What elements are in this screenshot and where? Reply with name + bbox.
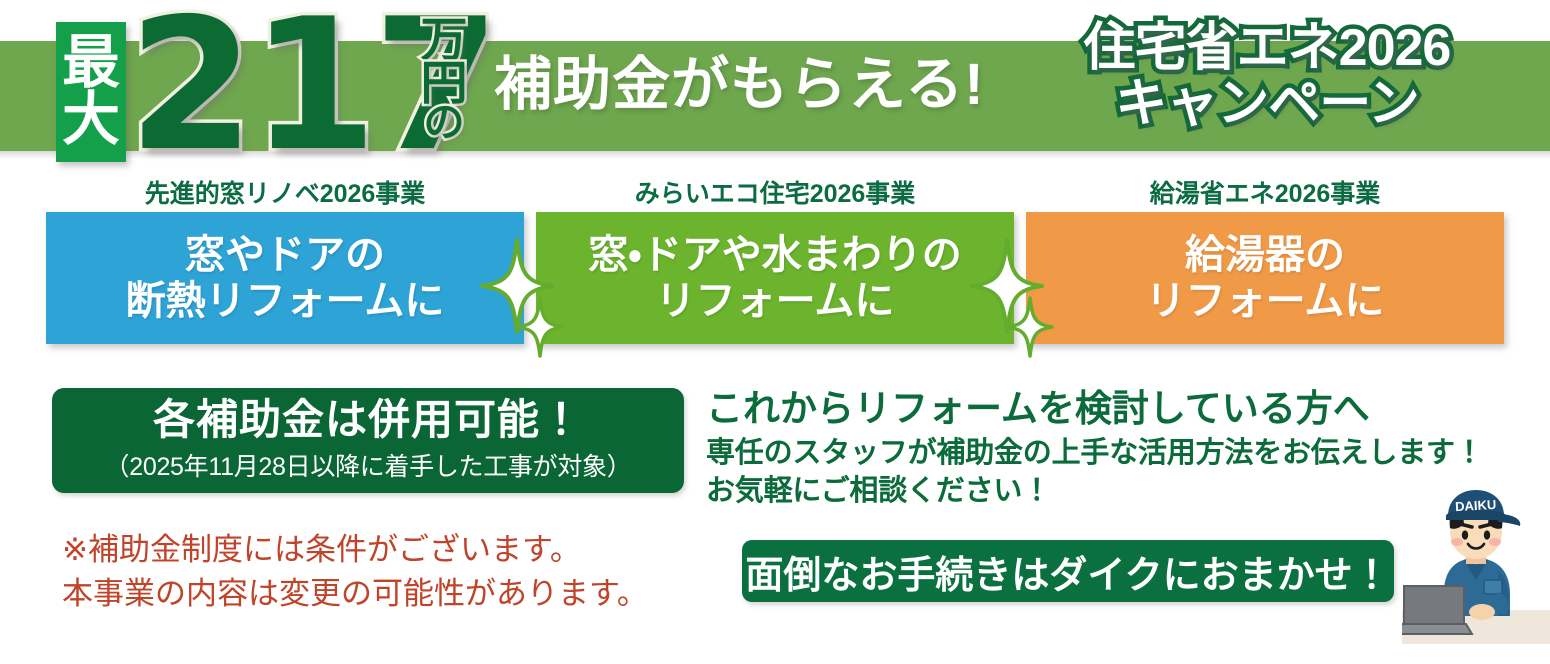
banner-headline: 補助金がもらえる!	[494, 56, 985, 114]
cta-button-label: 面倒なお手続きはダイクにおまかせ！	[745, 544, 1390, 599]
program-box-0-line-1: 窓やドアの	[185, 232, 385, 278]
program-box-2: 給湯器の リフォームに	[1026, 212, 1504, 344]
combinable-subsidy-subtitle: （2025年11月28日以降に着手した工事が対象）	[105, 447, 632, 483]
amount-unit-stack: 万 円 の	[416, 18, 472, 142]
svg-text:DAIKU: DAIKU	[1455, 497, 1497, 514]
program-box-2-line-2: リフォームに	[1146, 278, 1385, 324]
cta-button[interactable]: 面倒なお手続きはダイクにおまかせ！	[742, 540, 1394, 602]
program-box-0: 窓やドアの 断熱リフォームに	[46, 212, 524, 344]
consultation-heading: これからリフォームを検討している方へ	[706, 388, 1466, 429]
mascot-illustration: DAIKU	[1402, 484, 1550, 644]
top-banner: 最 大 217 万 円 の 補助金がもらえる! 住宅省エネ2026 キャンペーン	[0, 0, 1550, 172]
unit-char-en: 円	[421, 61, 468, 104]
program-box-1-line-1: 窓・ドアや水まわりの	[588, 232, 962, 278]
consultation-subtext-line-1: 専任のスタッフが補助金の上手な活用方法をお伝えします！	[706, 435, 1466, 472]
max-amount-badge: 最 大	[56, 22, 126, 162]
campaign-title-line-2: キャンペーン	[1032, 78, 1502, 130]
program-card-water-heater[interactable]: 給湯省エネ2026事業 給湯器の リフォームに	[1026, 178, 1504, 344]
combinable-subsidy-title: 各補助金は併用可能！	[153, 398, 583, 442]
disclaimer-line-1: ※補助金制度には条件がございます。	[62, 528, 648, 572]
disclaimer-text: ※補助金制度には条件がございます。 本事業の内容は変更の可能性があります。	[62, 528, 648, 616]
max-badge-char-1: 最	[62, 35, 120, 92]
consultation-subtext: 専任のスタッフが補助金の上手な活用方法をお伝えします！ お気軽にご相談ください！	[706, 435, 1466, 509]
program-label-0: 先進的窓リノベ2026事業	[46, 178, 524, 212]
consultation-block: これからリフォームを検討している方へ 専任のスタッフが補助金の上手な活用方法をお…	[706, 388, 1466, 510]
program-label-2: 給湯省エネ2026事業	[1026, 178, 1504, 212]
campaign-title-line-1: 住宅省エネ2026	[1032, 22, 1502, 74]
program-box-1: 窓・ドアや水まわりの リフォームに	[536, 212, 1014, 344]
program-box-1-line-2: リフォームに	[656, 278, 895, 324]
staff-character-icon: DAIKU	[1402, 484, 1550, 644]
unit-char-no: の	[424, 104, 465, 142]
max-badge-char-2: 大	[62, 92, 120, 149]
program-card-window-renovation[interactable]: 先進的窓リノベ2026事業 窓やドアの 断熱リフォームに	[46, 178, 524, 344]
disclaimer-line-2: 本事業の内容は変更の可能性があります。	[62, 572, 648, 616]
program-card-eco-house[interactable]: みらいエコ住宅2026事業 窓・ドアや水まわりの リフォームに	[536, 178, 1014, 344]
consultation-subtext-line-2: お気軽にご相談ください！	[706, 473, 1466, 510]
program-box-0-line-2: 断熱リフォームに	[126, 278, 445, 324]
program-card-list: 先進的窓リノベ2026事業 窓やドアの 断熱リフォームに みらいエコ住宅2026…	[0, 178, 1550, 368]
unit-char-man: 万	[421, 18, 468, 61]
program-label-1: みらいエコ住宅2026事業	[536, 178, 1014, 212]
combinable-subsidy-box: 各補助金は併用可能！ （2025年11月28日以降に着手した工事が対象）	[52, 388, 684, 493]
campaign-title: 住宅省エネ2026 キャンペーン	[1032, 22, 1502, 130]
program-box-2-line-1: 給湯器の	[1185, 232, 1345, 278]
